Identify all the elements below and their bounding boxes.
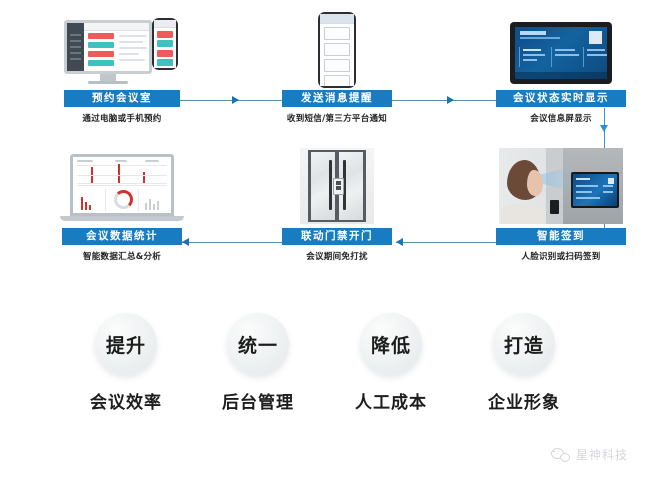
flow-sub-door-access: 会议期间免打扰 bbox=[282, 250, 392, 262]
flow-node-send-message[interactable]: 发送消息提醒 收到短信/第三方平台通知 bbox=[282, 12, 392, 124]
donut-chart bbox=[114, 190, 133, 209]
phone-notification-image bbox=[282, 12, 392, 90]
benefit-item-2: 统一 后台管理 bbox=[198, 313, 318, 413]
flow-label-data-stats: 会议数据统计 bbox=[62, 228, 182, 245]
arrow-right-2 bbox=[447, 96, 454, 104]
benefit-word-1: 提升 bbox=[106, 331, 146, 358]
face-recognition-terminal-image bbox=[496, 148, 626, 228]
benefit-circle-2: 统一 bbox=[227, 313, 289, 375]
phone-statusbar bbox=[154, 20, 176, 28]
flow-node-data-stats[interactable]: 会议数据统计 智能数据汇总&分析 bbox=[62, 148, 182, 262]
access-control-panel bbox=[333, 178, 344, 195]
panel-room-title bbox=[520, 31, 546, 35]
benefit-text-2: 后台管理 bbox=[198, 388, 318, 413]
benefit-word-3: 降低 bbox=[371, 331, 411, 358]
monitor-foot bbox=[88, 81, 128, 84]
panel-bottom-strip bbox=[515, 72, 607, 79]
laptop-icon bbox=[70, 154, 184, 221]
laptop-analytics-dashboard-image bbox=[62, 148, 182, 228]
flow-sub-book-room: 通过电脑或手机预约 bbox=[64, 112, 180, 124]
flow-label-send-message: 发送消息提醒 bbox=[282, 90, 392, 107]
notification-card bbox=[324, 75, 350, 86]
face-recognition-scene bbox=[499, 148, 623, 224]
arrow-right-1 bbox=[232, 96, 239, 104]
checkin-terminal-screen bbox=[571, 172, 619, 208]
arrow-down-1 bbox=[600, 125, 608, 132]
flow-sub-smart-checkin: 人脸识别或扫码签到 bbox=[496, 250, 626, 262]
meeting-room-display-panel-image bbox=[496, 12, 626, 90]
monitor-neck bbox=[100, 74, 116, 81]
laptop-base bbox=[60, 216, 184, 221]
flow-label-status-display: 会议状态实时显示 bbox=[496, 90, 626, 107]
notification-card bbox=[324, 43, 350, 56]
person-body bbox=[501, 204, 545, 224]
flow-sub-send-message: 收到短信/第三方平台通知 bbox=[282, 112, 392, 124]
panel-room-subtitle bbox=[520, 37, 560, 39]
wechat-icon bbox=[551, 447, 570, 462]
connector-door-to-stats bbox=[182, 242, 284, 243]
phone-notification-screen bbox=[320, 14, 354, 86]
phone-screen bbox=[154, 20, 176, 68]
laptop-screen bbox=[70, 154, 174, 216]
display-panel-icon bbox=[510, 22, 612, 84]
phone-app-bar bbox=[320, 14, 354, 24]
benefit-item-4: 打造 企业形象 bbox=[464, 313, 584, 413]
glass-double-doors bbox=[300, 148, 374, 224]
notification-card bbox=[324, 59, 350, 72]
arrow-left-1 bbox=[396, 238, 403, 246]
glass-access-doors-image bbox=[282, 148, 392, 228]
connector-checkin-to-door bbox=[396, 242, 498, 243]
benefit-circle-4: 打造 bbox=[493, 313, 555, 375]
flow-label-smart-checkin: 智能签到 bbox=[496, 228, 626, 245]
door-sensor-icon bbox=[550, 200, 559, 214]
display-panel-screen bbox=[515, 27, 607, 79]
monitor-ui-topbar bbox=[84, 23, 149, 31]
door-handle-left bbox=[329, 160, 332, 210]
desktop-monitor-icon bbox=[64, 20, 152, 84]
benefit-text-4: 企业形象 bbox=[464, 388, 584, 413]
infographic-canvas: 预约会议室 通过电脑或手机预约 发送消息提醒 收到短信/第三方平台通知 bbox=[0, 0, 650, 481]
arrow-left-2 bbox=[182, 238, 189, 246]
benefit-circle-1: 提升 bbox=[95, 313, 157, 375]
flow-label-door-access: 联动门禁开门 bbox=[282, 228, 392, 245]
smartphone-booking-icon bbox=[152, 18, 178, 70]
flow-node-book-room[interactable]: 预约会议室 通过电脑或手机预约 bbox=[64, 12, 180, 124]
benefit-text-1: 会议效率 bbox=[66, 388, 186, 413]
benefit-item-1: 提升 会议效率 bbox=[66, 313, 186, 413]
footer-watermark: 星神科技 bbox=[551, 446, 628, 463]
desktop-and-phone-booking-image bbox=[64, 12, 180, 90]
notification-card bbox=[324, 27, 350, 40]
benefit-circle-3: 降低 bbox=[360, 313, 422, 375]
monitor-screen bbox=[64, 20, 152, 74]
panel-qr-code bbox=[589, 31, 602, 44]
benefit-word-2: 统一 bbox=[238, 331, 278, 358]
flow-sub-data-stats: 智能数据汇总&分析 bbox=[62, 250, 182, 262]
flow-node-door-access[interactable]: 联动门禁开门 会议期间免打扰 bbox=[282, 148, 392, 262]
flow-node-smart-checkin[interactable]: 智能签到 人脸识别或扫码签到 bbox=[496, 148, 626, 262]
smartphone-notification-icon bbox=[318, 12, 356, 88]
flow-label-book-room: 预约会议室 bbox=[64, 90, 180, 107]
connector-message-to-status bbox=[392, 100, 498, 101]
flow-node-status-display[interactable]: 会议状态实时显示 会议信息屏显示 bbox=[496, 12, 626, 124]
monitor-ui-sidebar bbox=[67, 23, 84, 71]
benefit-text-3: 人工成本 bbox=[331, 388, 451, 413]
benefit-item-3: 降低 人工成本 bbox=[331, 313, 451, 413]
benefit-word-4: 打造 bbox=[504, 331, 544, 358]
person-face bbox=[527, 170, 543, 196]
flow-sub-status-display: 会议信息屏显示 bbox=[496, 112, 626, 124]
footer-brand-text: 星神科技 bbox=[576, 446, 628, 463]
